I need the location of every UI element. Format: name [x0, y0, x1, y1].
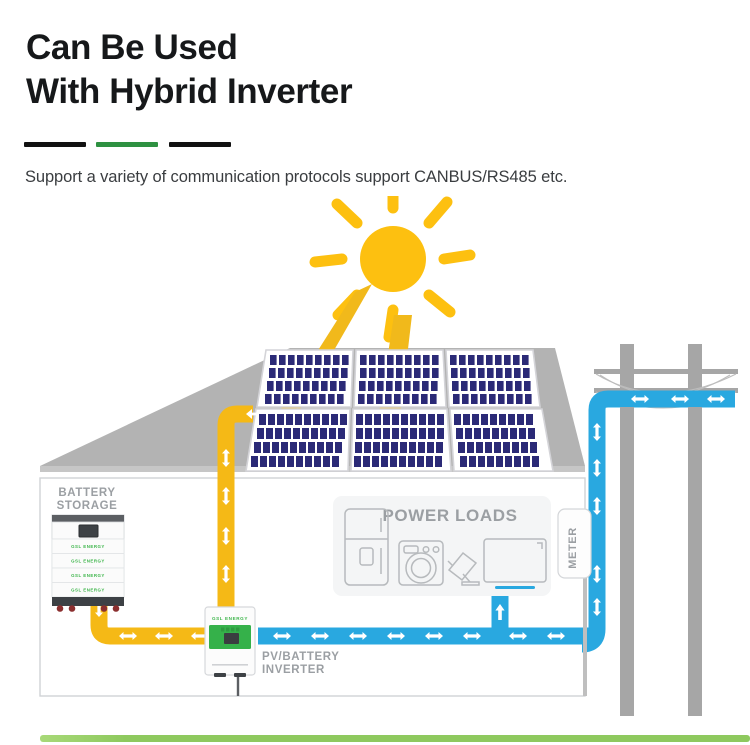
inverter-label-line2: INVERTER: [262, 664, 325, 676]
panel-row-top: [257, 350, 540, 407]
title-divider: [24, 142, 234, 147]
battery-caster: [113, 605, 120, 612]
power-loads-panel: POWER LOADS: [333, 496, 551, 596]
battery-caster: [57, 605, 64, 612]
battery-module-brand: GSL ENERGY: [71, 559, 105, 564]
divider-dash-2: [96, 142, 158, 147]
page-root: Can Be Used With Hybrid Inverter Support…: [0, 0, 750, 745]
battery-caster: [101, 605, 108, 612]
divider-dash-3: [169, 142, 231, 147]
inverter-brand-label: GSL ENERGY: [212, 616, 248, 621]
inverter-screen: [224, 633, 239, 644]
page-subtitle: Support a variety of communication proto…: [25, 168, 567, 187]
battery-module-brand: GSL ENERGY: [71, 573, 105, 578]
battery-module-list: GSL ENERGY GSL ENERGY GSL ENERGY GSL ENE…: [52, 539, 124, 597]
page-title: Can Be Used With Hybrid Inverter: [26, 26, 352, 115]
electric-meter: METER: [558, 509, 591, 578]
system-diagram: BATTERY STORAGE GSL ENERGY GSL ENERGY GS…: [0, 196, 750, 716]
battery-module-brand: GSL ENERGY: [71, 588, 105, 593]
power-loads-label: POWER LOADS: [382, 506, 517, 525]
meter-label: METER: [567, 527, 579, 569]
panel-row-bottom: [246, 409, 553, 471]
pole-crossarm-upper-right: [662, 369, 738, 374]
footer-accent-bar: [40, 735, 750, 742]
pole-crossarm-upper-left: [594, 369, 666, 374]
divider-dash-1: [24, 142, 86, 147]
battery-controller-screen: [79, 525, 98, 537]
battery-storage-label-line2: STORAGE: [57, 500, 118, 512]
solar-panel-array: [246, 350, 553, 471]
battery-storage-label-line1: BATTERY: [58, 487, 115, 499]
battery-storage-unit: BATTERY STORAGE GSL ENERGY GSL ENERGY GS…: [52, 487, 124, 612]
battery-caster: [69, 605, 76, 612]
inverter-label-line1: PV/BATTERY: [262, 651, 340, 663]
battery-module-brand: GSL ENERGY: [71, 544, 105, 549]
header-section: Can Be Used With Hybrid Inverter Support…: [0, 0, 750, 200]
